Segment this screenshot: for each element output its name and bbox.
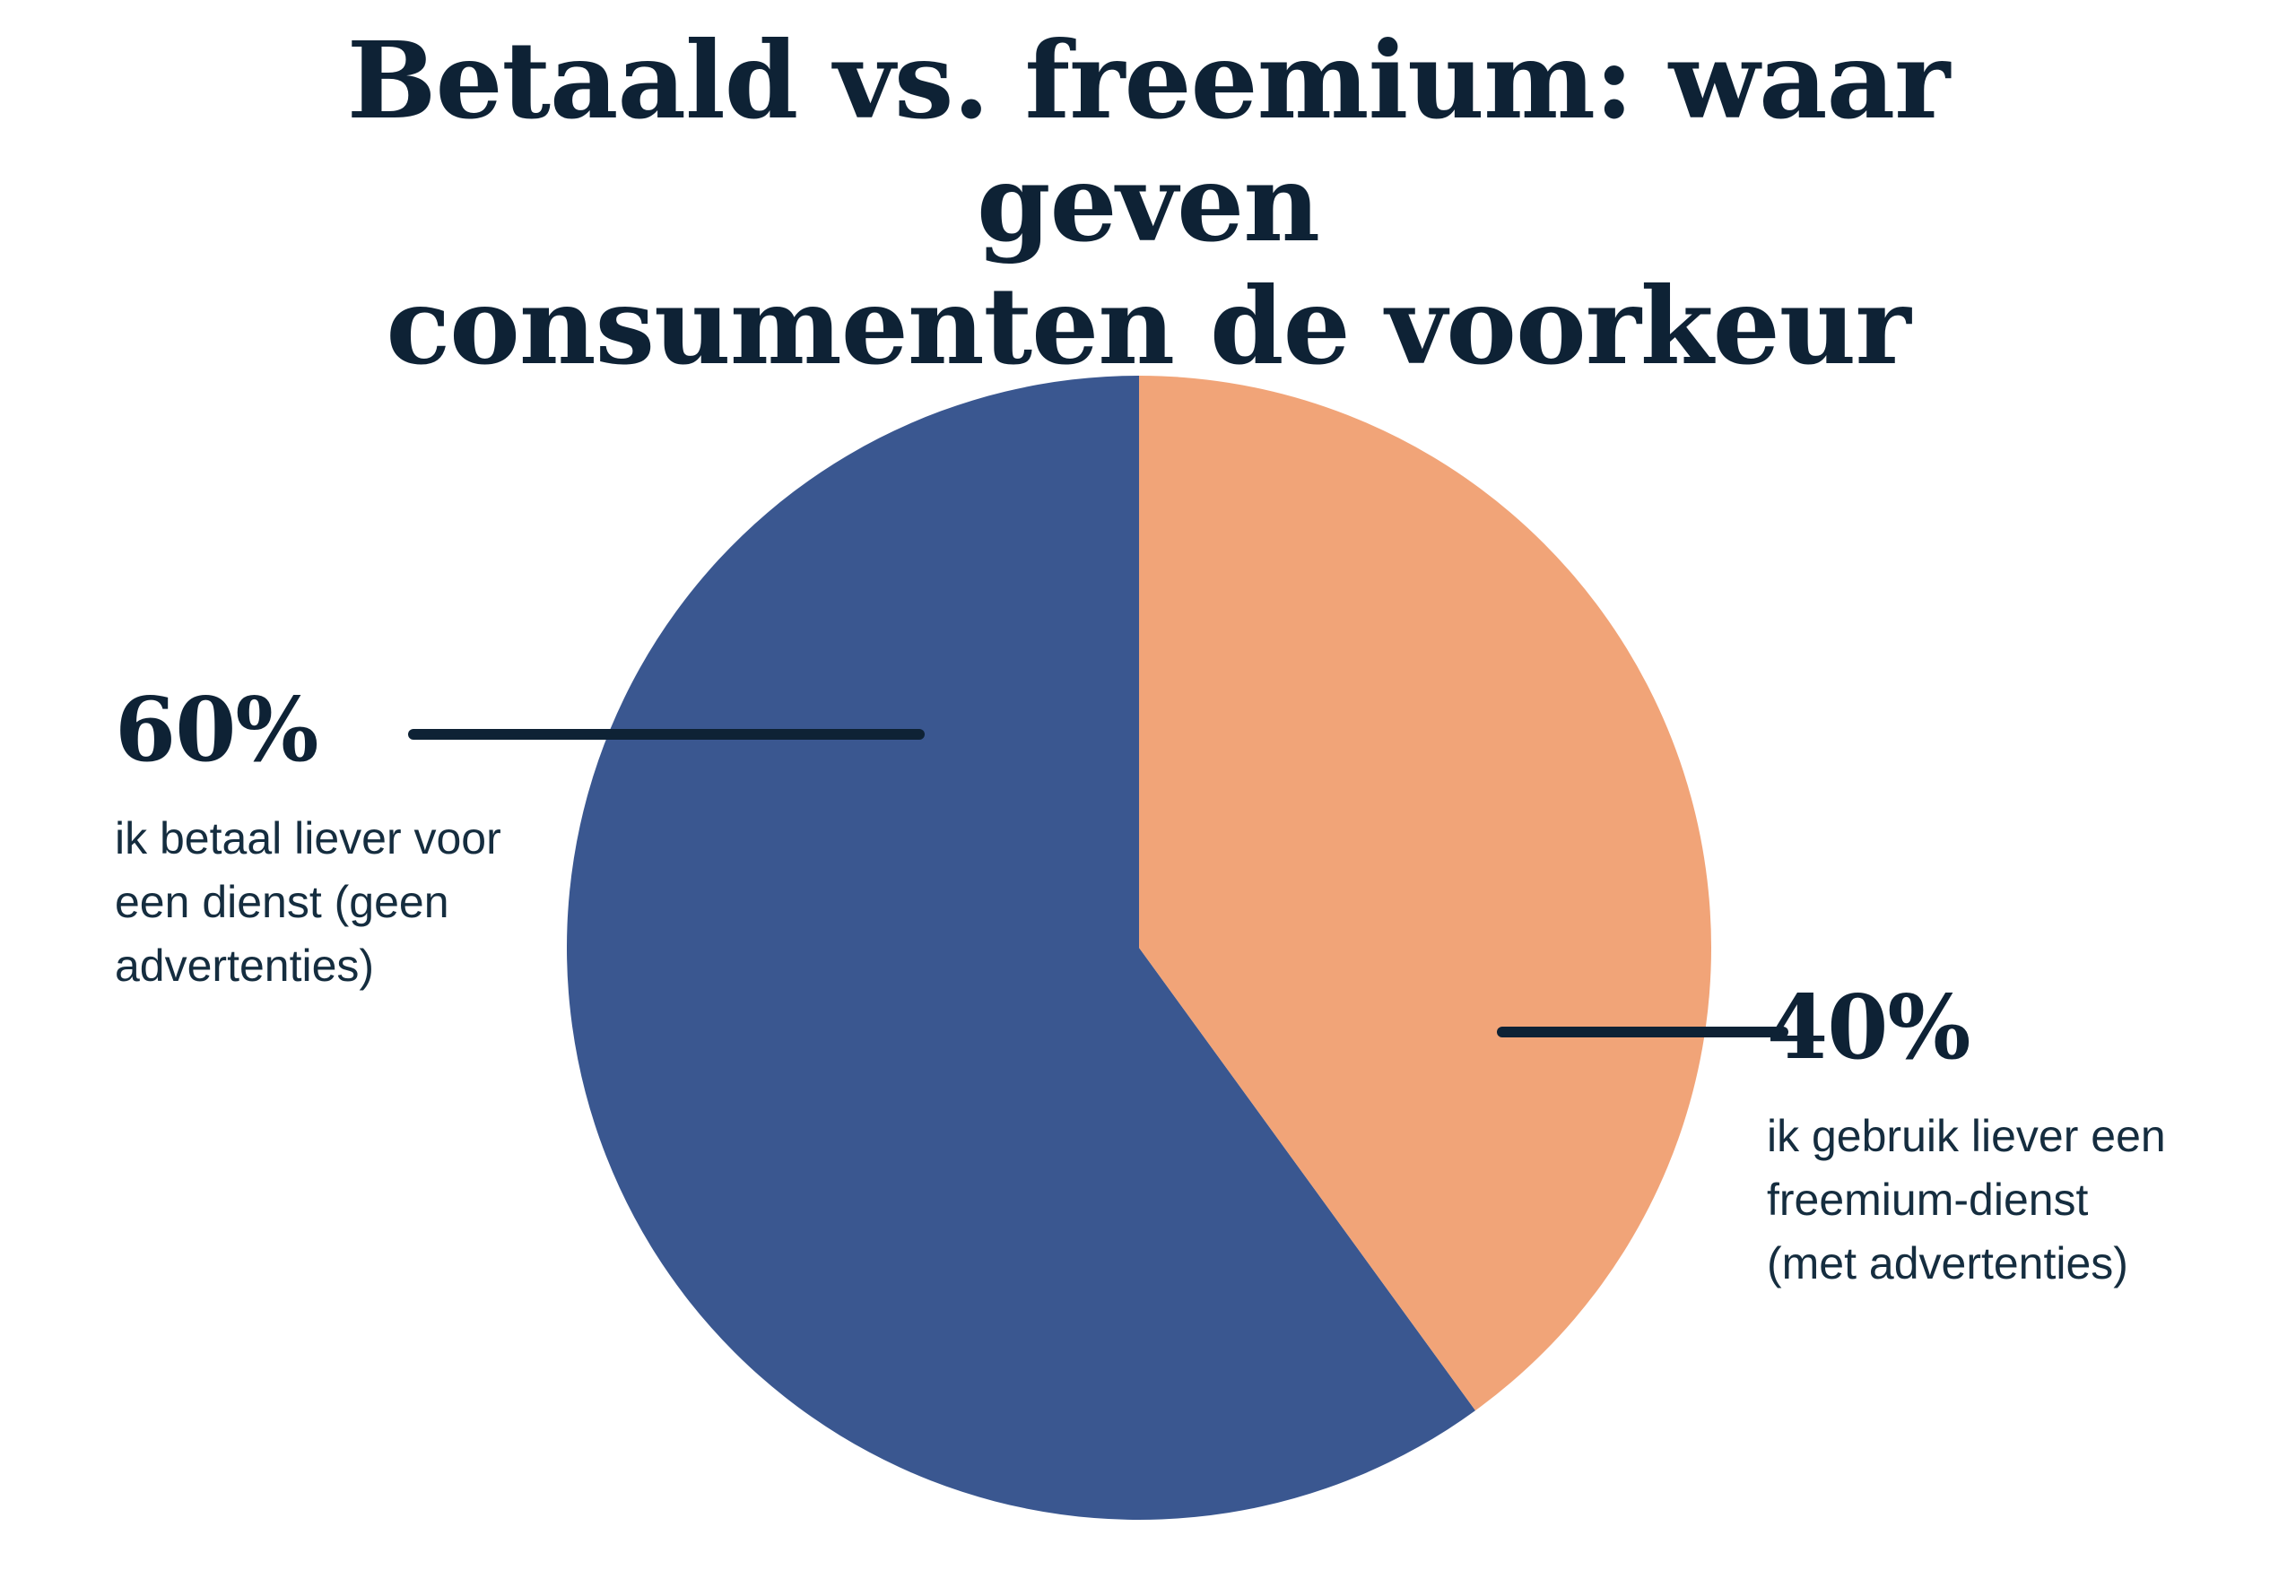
infographic-canvas: Betaald vs. freemium: waar geven consume… [0,0,2296,1596]
callout-description-left: ik betaal liever voor een dienst (geen a… [115,807,581,998]
pie-chart [567,376,1711,1520]
callout-description-right: ik gebruik liever een freemium-dienst (m… [1767,1105,2233,1296]
pie-chart-svg [567,376,1711,1520]
callout-betaald: 60% ik betaal liever voor een dienst (ge… [115,687,581,998]
callout-percent-left: 60% [115,687,581,775]
callout-percent-right: 40% [1767,984,2233,1072]
callout-freemium: 40% ik gebruik liever een freemium-diens… [1767,984,2233,1296]
leader-line-right [1497,1027,1788,1037]
